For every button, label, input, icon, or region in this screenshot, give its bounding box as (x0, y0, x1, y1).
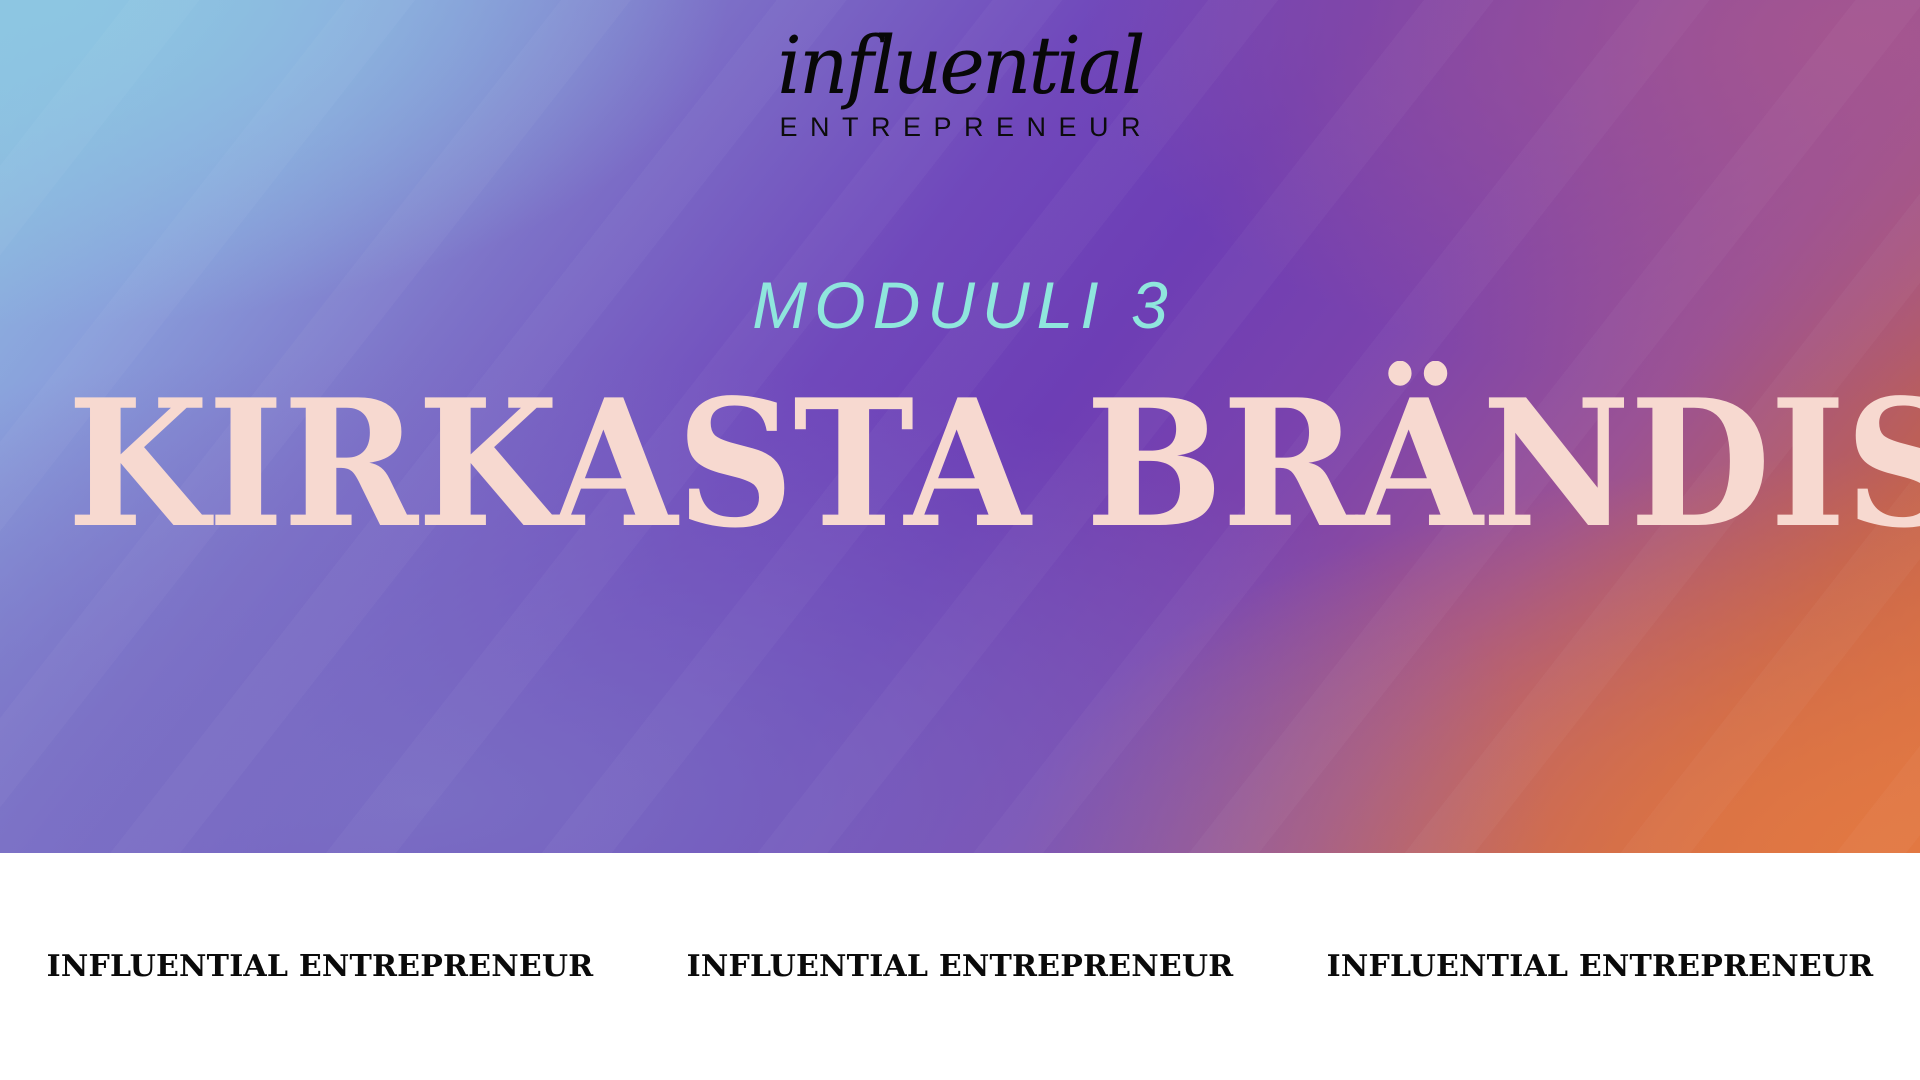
logo-wordmark: influential (38, 28, 1881, 104)
footer-brand-item-1: INFLUENTIAL ENTREPRENEUR (0, 949, 640, 984)
hero-gradient-panel: influential ENTREPRENEUR MODUULI 3 KIRKA… (0, 0, 1920, 853)
footer-brand-row: INFLUENTIAL ENTREPRENEUR INFLUENTIAL ENT… (0, 853, 1920, 1080)
hero-content: influential ENTREPRENEUR MODUULI 3 KIRKA… (0, 0, 1920, 853)
footer-brand-label: INFLUENTIAL ENTREPRENEUR (687, 949, 1234, 984)
slide-title: KIRKASTA BRÄNDISI (67, 372, 1853, 558)
footer-brand-item-3: INFLUENTIAL ENTREPRENEUR (1280, 949, 1920, 984)
footer-brand-item-2: INFLUENTIAL ENTREPRENEUR (640, 949, 1280, 984)
footer-bar: INFLUENTIAL ENTREPRENEUR INFLUENTIAL ENT… (0, 853, 1920, 1080)
brand-logo: influential ENTREPRENEUR (0, 28, 1920, 143)
footer-brand-label: INFLUENTIAL ENTREPRENEUR (47, 949, 594, 984)
logo-subtitle: ENTREPRENEUR (0, 112, 1920, 143)
slide-root: influential ENTREPRENEUR MODUULI 3 KIRKA… (0, 0, 1920, 1080)
footer-brand-label: INFLUENTIAL ENTREPRENEUR (1327, 949, 1874, 984)
module-eyebrow-label: MODUULI 3 (0, 272, 1920, 338)
